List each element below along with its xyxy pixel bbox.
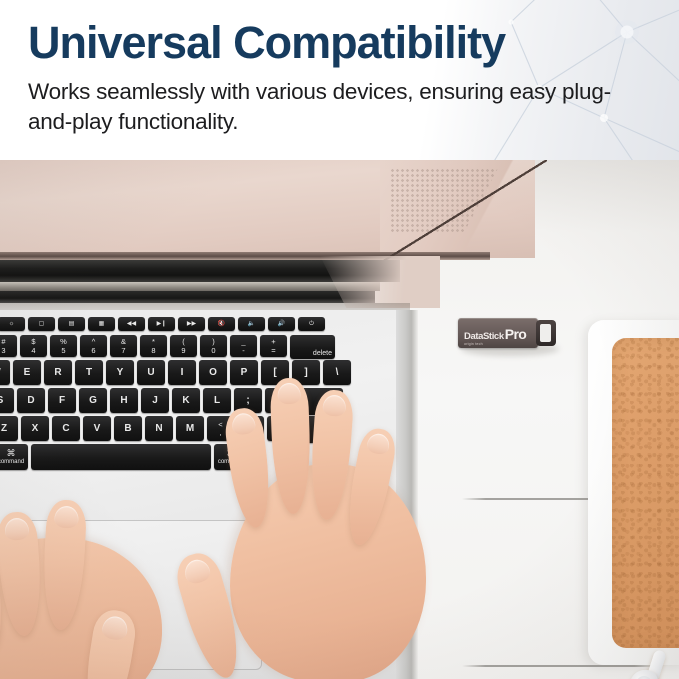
key-t[interactable]: T [75, 360, 103, 385]
key-6[interactable]: ^6 [80, 335, 107, 357]
rose-gold-laptop-edge [0, 160, 550, 305]
keyboard-number-row[interactable]: #3 $4 %5 ^6 &7 *8 (9 )0 _- += delete [0, 335, 335, 359]
usb-drive-label: DataStick Pro origin tech [464, 326, 534, 348]
key-y[interactable]: Y [106, 360, 134, 385]
key-9[interactable]: (9 [170, 335, 197, 357]
marketing-product-banner: Universal Compatibility Works seamlessly… [0, 0, 679, 679]
key-f7-mission-control[interactable]: ▤ [58, 317, 85, 331]
key-b[interactable]: B [114, 416, 142, 441]
laptop-hinge-mid [0, 282, 380, 291]
key-j[interactable]: J [141, 388, 169, 413]
wireless-earbud [630, 656, 678, 679]
usb-drive-body: DataStick Pro origin tech [458, 318, 538, 348]
usb-flash-drive: DataStick Pro origin tech [458, 312, 568, 358]
key-z[interactable]: Z [0, 416, 18, 441]
key-delete[interactable]: delete [290, 335, 335, 359]
desk-seam-line [462, 665, 658, 667]
key-w[interactable]: W [0, 360, 10, 385]
laptop-diagonal-edge [382, 160, 547, 262]
fingernail [231, 412, 256, 436]
fingernail [4, 517, 29, 541]
cork-board-surface [612, 338, 679, 648]
key-power[interactable]: ⏻ [298, 317, 325, 331]
product-lifestyle-photo: ☼ ▢ ▤ ▦ ◀◀ ▶❙ ▶▶ 🔇 🔈 🔊 ⏻ #3 $4 %5 ^6 &7 … [0, 160, 679, 679]
usb-model-name: Pro [505, 329, 527, 340]
key-n[interactable]: N [145, 416, 173, 441]
key-u[interactable]: U [137, 360, 165, 385]
laptop-hinge-lower [0, 291, 375, 303]
key-volume-down[interactable]: 🔈 [238, 317, 265, 331]
header-banner: Universal Compatibility Works seamlessly… [0, 0, 679, 160]
banner-text-block: Universal Compatibility Works seamlessly… [28, 17, 648, 137]
key-3[interactable]: #3 [0, 335, 17, 357]
key-f5-brightness-down[interactable]: ☼ [0, 317, 25, 331]
key-f8-launchpad[interactable]: ▦ [88, 317, 115, 331]
key-volume-up[interactable]: 🔊 [268, 317, 295, 331]
usb-cap-opening [540, 324, 551, 342]
key-g[interactable]: G [79, 388, 107, 413]
key-f9-rewind[interactable]: ◀◀ [118, 317, 145, 331]
key-s[interactable]: S [0, 388, 14, 413]
key-e[interactable]: E [13, 360, 41, 385]
key-d[interactable]: D [17, 388, 45, 413]
keyboard-function-row[interactable]: ☼ ▢ ▤ ▦ ◀◀ ▶❙ ▶▶ 🔇 🔈 🔊 ⏻ [0, 317, 325, 331]
right-hand [182, 372, 432, 679]
usb-sub-mark: origin tech [464, 342, 526, 346]
fingernail [182, 557, 212, 586]
key-minus[interactable]: _- [230, 335, 257, 357]
key-c[interactable]: C [52, 416, 80, 441]
page-subtitle: Works seamlessly with various devices, e… [28, 77, 643, 137]
key-f10-play-pause[interactable]: ▶❙ [148, 317, 175, 331]
key-0[interactable]: )0 [200, 335, 227, 357]
key-f[interactable]: F [48, 388, 76, 413]
key-f11-fast-forward[interactable]: ▶▶ [178, 317, 205, 331]
fingernail [54, 505, 79, 528]
usb-drive-cap [536, 320, 556, 346]
key-x[interactable]: X [21, 416, 49, 441]
key-h[interactable]: H [110, 388, 138, 413]
key-v[interactable]: V [83, 416, 111, 441]
key-7[interactable]: &7 [110, 335, 137, 357]
page-title: Universal Compatibility [28, 17, 648, 69]
fingernail [366, 432, 391, 456]
key-f6-brightness-up[interactable]: ▢ [28, 317, 55, 331]
left-hand [0, 490, 178, 679]
fingernail [277, 383, 301, 405]
key-5[interactable]: %5 [50, 335, 77, 357]
fingernail [101, 615, 129, 642]
key-4[interactable]: $4 [20, 335, 47, 357]
usb-brand-name: DataStick [464, 332, 504, 341]
key-equal[interactable]: += [260, 335, 287, 357]
key-command-left[interactable]: ⌘command [0, 444, 28, 470]
key-mute[interactable]: 🔇 [208, 317, 235, 331]
fingernail [322, 394, 346, 417]
key-8[interactable]: *8 [140, 335, 167, 357]
key-r[interactable]: R [44, 360, 72, 385]
